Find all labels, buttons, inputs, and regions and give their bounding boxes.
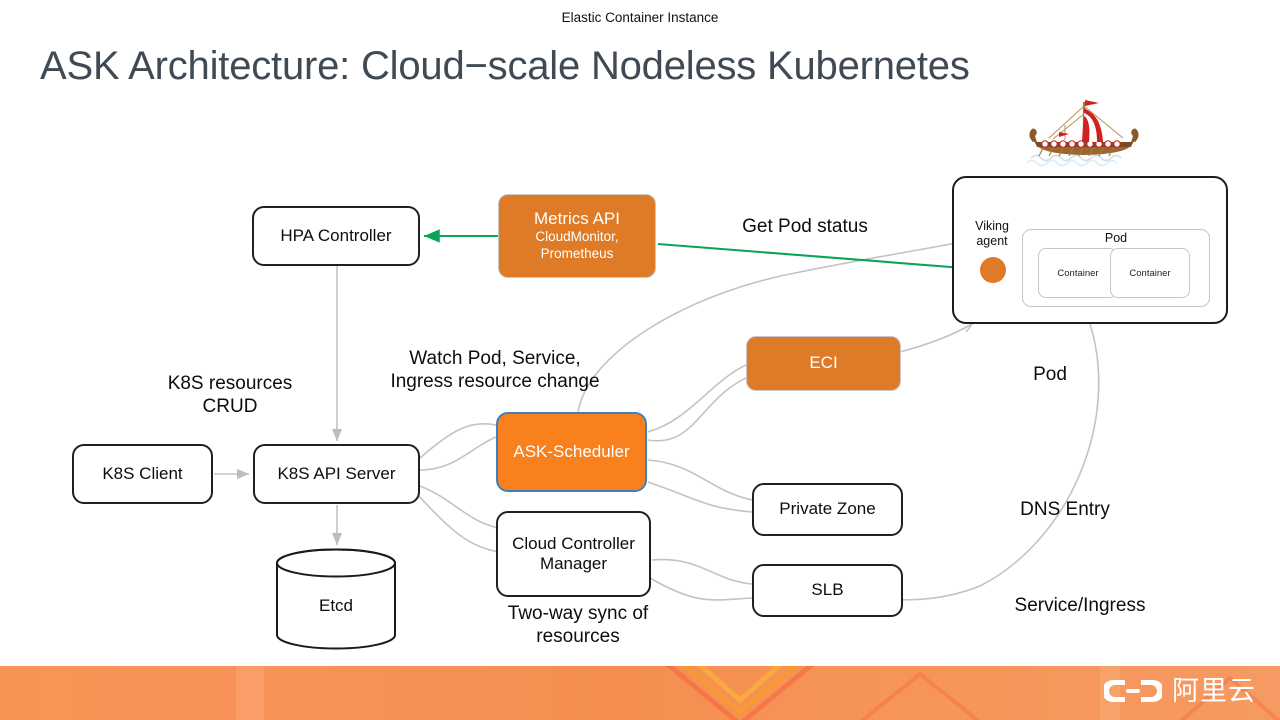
node-k8s-client[interactable]: K8S Client (72, 444, 213, 504)
footer-banner (0, 666, 1280, 720)
node-sublabel: CloudMonitor, Prometheus (535, 229, 618, 263)
node-label: K8S API Server (277, 464, 395, 484)
elastic-container-instance-title: Elastic Container Instance (0, 10, 1280, 25)
node-slb[interactable]: SLB (752, 564, 903, 617)
node-private-zone[interactable]: Private Zone (752, 483, 903, 536)
label-watch-resources: Watch Pod, Service, Ingress resource cha… (340, 347, 650, 393)
banner-chevron-decoration (0, 666, 1280, 720)
brand-logo: 阿里云 (1104, 676, 1256, 706)
node-label: Cloud Controller Manager (512, 534, 635, 574)
pod-label: Pod (1022, 231, 1210, 245)
node-k8s-api-server[interactable]: K8S API Server (253, 444, 420, 504)
node-cloud-controller-manager[interactable]: Cloud Controller Manager (496, 511, 651, 597)
node-metrics-api[interactable]: Metrics API CloudMonitor, Prometheus (498, 194, 656, 278)
label-dns-entry: DNS Entry (990, 498, 1140, 521)
label-two-way-sync: Two-way sync of resources (478, 602, 678, 648)
label-k8s-resources-crud: K8S resources CRUD (140, 372, 320, 418)
node-eci[interactable]: ECI (746, 336, 901, 391)
node-label: ECI (809, 353, 837, 373)
node-label: Metrics API (534, 209, 620, 229)
node-label: HPA Controller (280, 226, 391, 246)
node-label: SLB (811, 580, 843, 600)
slide-canvas: ASK Architecture: Cloud−scale Nodeless K… (0, 0, 1280, 720)
viking-agent-label: Viking agent (958, 219, 1026, 249)
node-etcd-label: Etcd (275, 596, 397, 616)
label-get-pod-status: Get Pod status (730, 215, 880, 238)
page-title: ASK Architecture: Cloud−scale Nodeless K… (40, 44, 970, 89)
container-box-1: Container (1038, 248, 1118, 298)
viking-agent-node[interactable] (980, 257, 1006, 283)
node-label: K8S Client (102, 464, 182, 484)
container-box-2: Container (1110, 248, 1190, 298)
node-ask-scheduler[interactable]: ASK-Scheduler (496, 412, 647, 492)
viking-ship-icon (1023, 92, 1145, 168)
alibaba-cloud-logo-icon (1104, 676, 1162, 706)
label-pod: Pod (990, 363, 1110, 386)
node-label: Private Zone (779, 499, 875, 519)
node-hpa-controller[interactable]: HPA Controller (252, 206, 420, 266)
node-label: ASK-Scheduler (513, 442, 629, 462)
brand-logo-text: 阿里云 (1172, 678, 1256, 705)
label-service-ingress: Service/Ingress (980, 594, 1180, 617)
